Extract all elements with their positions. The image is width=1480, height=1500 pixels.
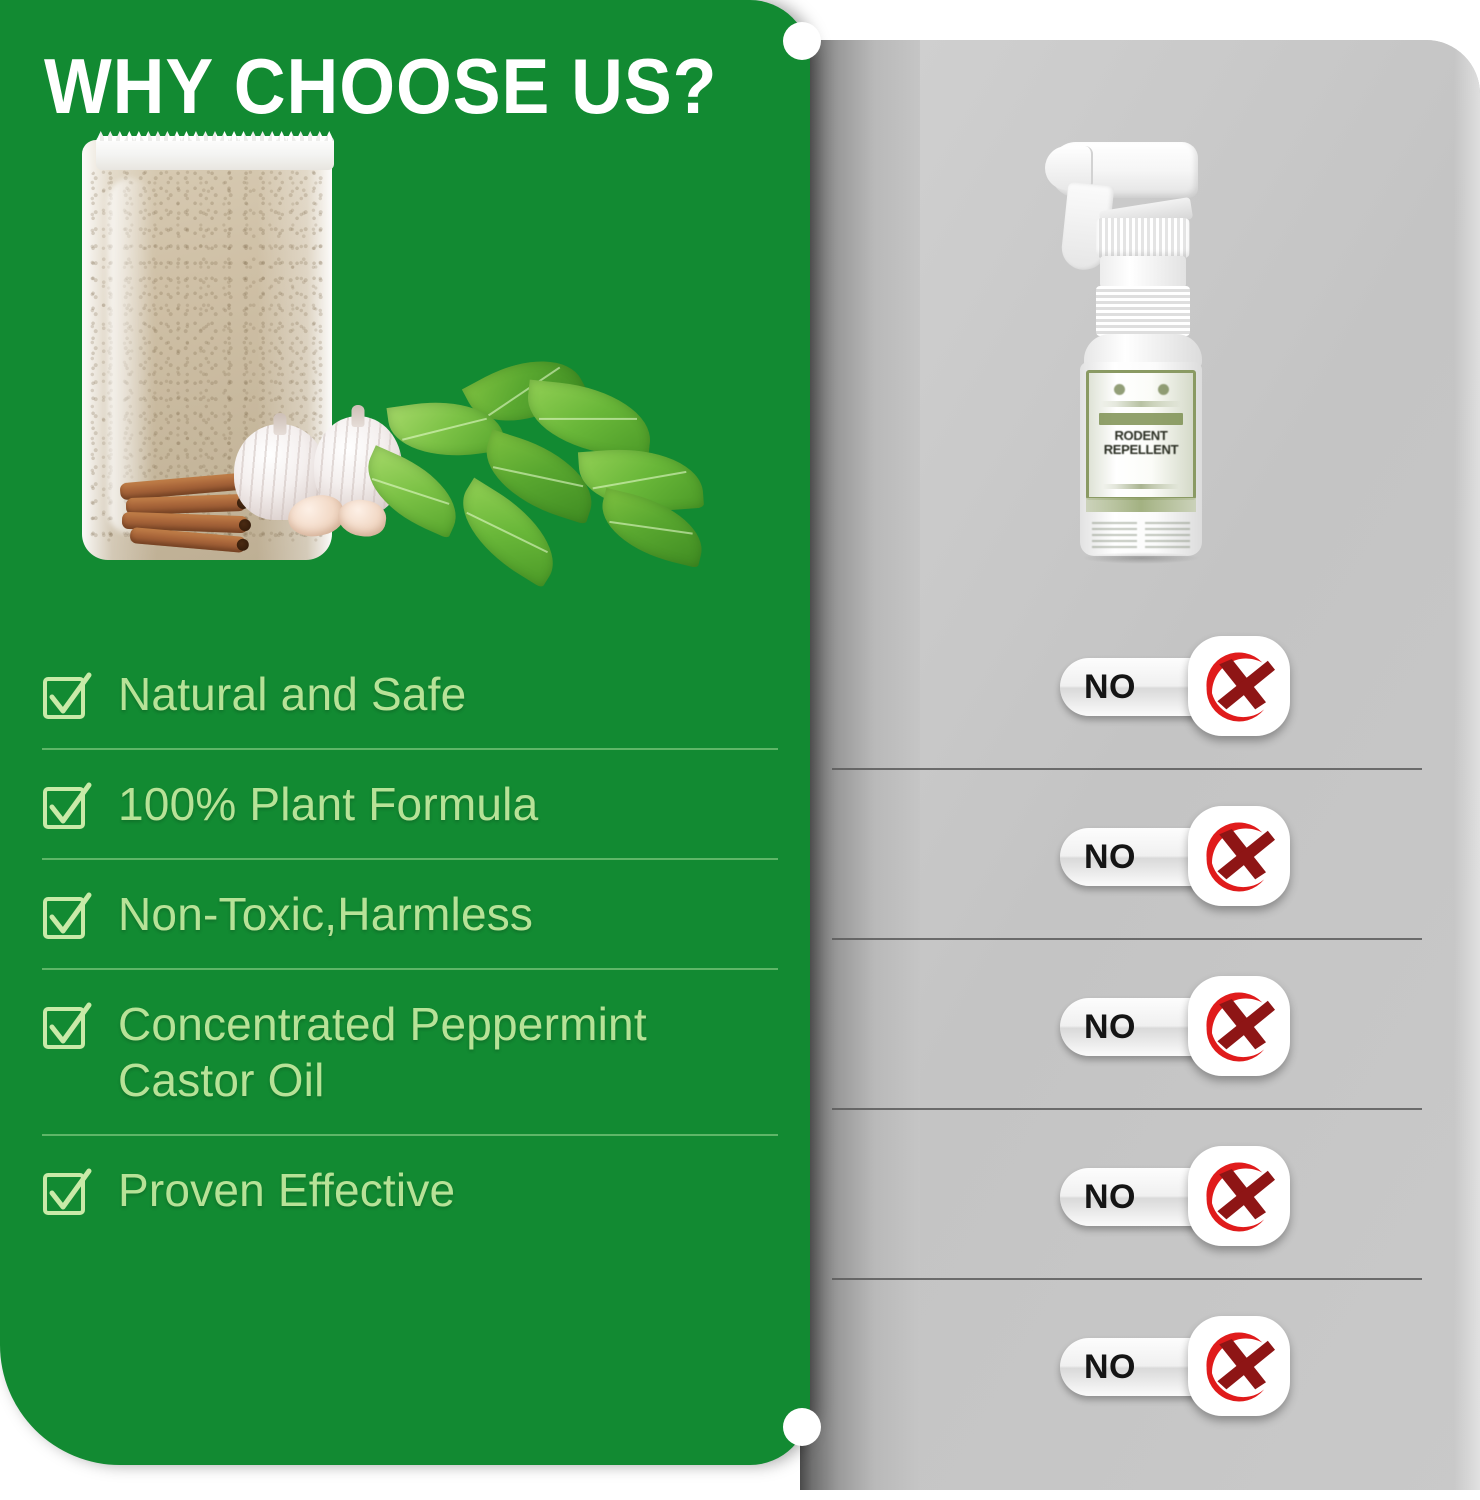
- label-footer-text: [1103, 484, 1179, 489]
- checkbox-check-icon: [42, 1002, 92, 1052]
- red-x-sticker: [1188, 806, 1290, 906]
- red-x-sticker: [1188, 976, 1290, 1076]
- checkbox-check-icon: [42, 892, 92, 942]
- red-x-icon: [1194, 981, 1284, 1071]
- no-badge-label: NO: [1084, 828, 1136, 886]
- spray-bottle-image: RODENT REPELLENT: [1078, 138, 1204, 558]
- feature-item[interactable]: 100% Plant Formula: [42, 748, 778, 858]
- bottle-text-column: [1145, 522, 1190, 548]
- checkbox-check-icon: [42, 1168, 92, 1218]
- comparison-row: NO: [1060, 636, 1290, 736]
- red-x-sticker: [1188, 1146, 1290, 1246]
- bottle-lower-text: [1092, 522, 1190, 548]
- bottle-shadow: [1082, 552, 1200, 564]
- feature-item[interactable]: Natural and Safe: [42, 640, 778, 748]
- feature-list: Natural and Safe 100% Plant Formula Non-…: [42, 640, 778, 1244]
- bottle-text-column: [1092, 522, 1137, 548]
- bottle-lower-band: [1086, 498, 1196, 512]
- no-badge-label: NO: [1084, 998, 1136, 1056]
- red-x-icon: [1194, 1321, 1284, 1411]
- bottle-body: RODENT REPELLENT: [1080, 362, 1202, 556]
- bottle-label: RODENT REPELLENT: [1086, 370, 1196, 500]
- bottle-collar: [1096, 218, 1190, 258]
- feature-item[interactable]: Concentrated Peppermint Castor Oil: [42, 968, 778, 1134]
- infographic-root: RODENT REPELLENT NO NO: [0, 0, 1480, 1500]
- feature-label: Non-Toxic,Harmless: [118, 886, 533, 942]
- red-x-icon: [1194, 1151, 1284, 1241]
- label-product-name: RODENT REPELLENT: [1095, 429, 1187, 457]
- cinnamon-sticks-image: [120, 444, 252, 550]
- no-badge-label: NO: [1084, 1338, 1136, 1396]
- card-notch-top: [783, 22, 821, 60]
- label-logo-icon: [1114, 384, 1125, 395]
- comparison-row: NO: [1060, 806, 1290, 906]
- bottle-ribs: [1096, 286, 1190, 336]
- product-photo: [62, 128, 784, 598]
- bottle-neck: [1100, 256, 1186, 288]
- row-divider: [832, 768, 1422, 770]
- comparison-row: NO: [1060, 1146, 1290, 1246]
- checkbox-check-icon: [42, 782, 92, 832]
- row-divider: [832, 938, 1422, 940]
- page-title: WHY CHOOSE US?: [44, 44, 725, 128]
- why-choose-us-card: WHY CHOOSE US?: [0, 0, 810, 1465]
- red-x-sticker: [1188, 636, 1290, 736]
- label-logo-icon: [1158, 384, 1169, 395]
- mint-leaves-image: [330, 360, 770, 578]
- red-x-icon: [1194, 641, 1284, 731]
- row-divider: [832, 1278, 1422, 1280]
- label-band: [1099, 413, 1183, 425]
- label-subtext: [1101, 401, 1181, 407]
- feature-label: 100% Plant Formula: [118, 776, 538, 832]
- label-logo-row: [1097, 379, 1185, 399]
- checkbox-check-icon: [42, 672, 92, 722]
- bag-seal: [96, 136, 334, 170]
- feature-item[interactable]: Proven Effective: [42, 1134, 778, 1244]
- feature-label: Concentrated Peppermint Castor Oil: [118, 996, 778, 1108]
- feature-label: Natural and Safe: [118, 666, 466, 722]
- row-divider: [832, 1108, 1422, 1110]
- comparison-row: NO: [1060, 976, 1290, 1076]
- card-notch-bottom: [783, 1408, 821, 1446]
- comparison-row: NO: [1060, 1316, 1290, 1416]
- red-x-icon: [1194, 811, 1284, 901]
- no-badge-label: NO: [1084, 658, 1136, 716]
- red-x-sticker: [1188, 1316, 1290, 1416]
- no-badge-label: NO: [1084, 1168, 1136, 1226]
- feature-label: Proven Effective: [118, 1162, 455, 1218]
- feature-item[interactable]: Non-Toxic,Harmless: [42, 858, 778, 968]
